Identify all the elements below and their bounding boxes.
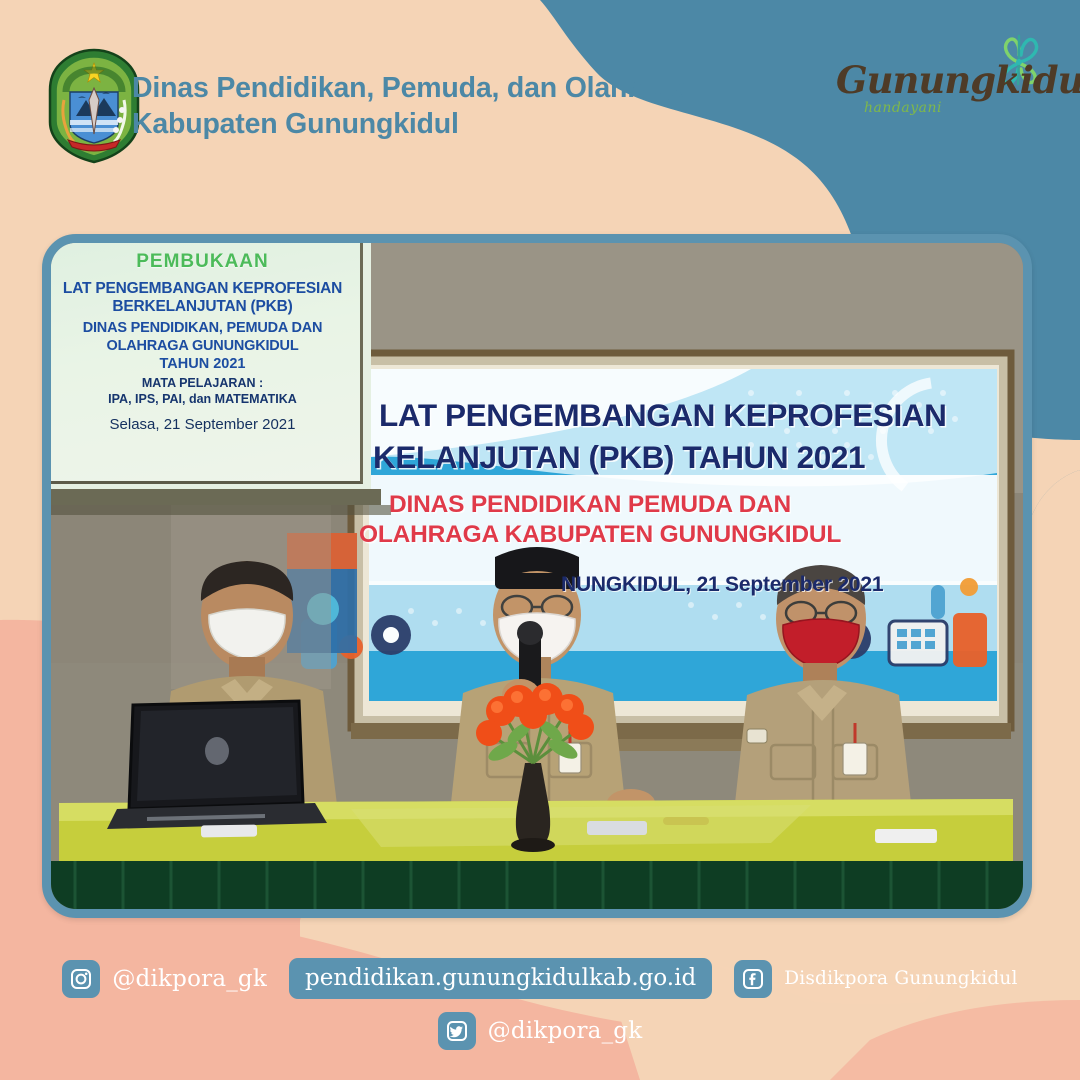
facebook-link[interactable]: Disdikpora Gunungkidul [734, 960, 1017, 998]
slide-line-7: IPA, IPS, PAI, dan MATEMATIKA [51, 391, 354, 407]
poster-header: Dinas Pendidikan, Pemuda, dan Olahraga K… [0, 0, 700, 190]
instagram-icon[interactable] [62, 960, 100, 998]
brand-wordmark: Gunungkidul [836, 58, 1080, 102]
banner-line-3: DINAS PENDIDIKAN PEMUDA DAN [389, 491, 791, 519]
banner-line-2: KELANJUTAN (PKB) TAHUN 2021 [373, 439, 1013, 476]
twitter-handle: @dikpora_gk [488, 1018, 643, 1044]
projected-slide: PEMBUKAAN LAT PENGEMBANGAN KEPROFESIAN B… [45, 239, 363, 484]
social-row-secondary: @dikpora_gk [0, 1012, 1080, 1050]
header-title-block: Dinas Pendidikan, Pemuda, dan Olahraga K… [132, 70, 672, 142]
banner-line-4: OLAHRAGA KABUPATEN GUNUNGKIDUL [359, 521, 841, 549]
website-badge[interactable]: pendidikan.gunungkidulkab.go.id [289, 958, 712, 999]
regency-crest-icon [46, 48, 142, 164]
header-title-line-1: Dinas Pendidikan, Pemuda, dan Olahraga [132, 70, 672, 106]
slide-line-5: TAHUN 2021 [51, 355, 354, 373]
slide-line-2: BERKELANJUTAN (PKB) [51, 298, 354, 316]
instagram-handle: @dikpora_gk [112, 966, 267, 992]
twitter-icon[interactable] [438, 1012, 476, 1050]
slide-line-1: LAT PENGEMBANGAN KEPROFESIAN [51, 280, 354, 298]
slide-date: Selasa, 21 September 2021 [51, 416, 354, 433]
facebook-icon[interactable] [734, 960, 772, 998]
slide-line-3: DINAS PENDIDIKAN, PEMUDA DAN [51, 319, 354, 337]
poster-canvas: Dinas Pendidikan, Pemuda, dan Olahraga K… [0, 0, 1080, 1080]
slide-line-4: OLAHRAGA GUNUNGKIDUL [51, 337, 354, 355]
facebook-page-name: Disdikpora Gunungkidul [784, 968, 1017, 989]
banner-line-1: LAT PENGEMBANGAN KEPROFESIAN [379, 397, 1019, 434]
brand-tagline: handayani [864, 100, 942, 116]
gunungkidul-brand-logo: Gunungkidul handayani [836, 34, 1046, 122]
slide-title: PEMBUKAAN [51, 251, 354, 273]
instagram-link[interactable]: @dikpora_gk [62, 960, 267, 998]
header-title-line-2: Kabupaten Gunungkidul [132, 106, 672, 142]
event-photo-card: PEMBUKAAN LAT PENGEMBANGAN KEPROFESIAN B… [42, 234, 1032, 918]
banner-line-5: NUNGKIDUL, 21 September 2021 [561, 573, 883, 597]
slide-line-6: MATA PELAJARAN : [51, 375, 354, 391]
social-row-primary: @dikpora_gk pendidikan.gunungkidulkab.go… [0, 958, 1080, 999]
twitter-link[interactable]: @dikpora_gk [438, 1012, 643, 1050]
